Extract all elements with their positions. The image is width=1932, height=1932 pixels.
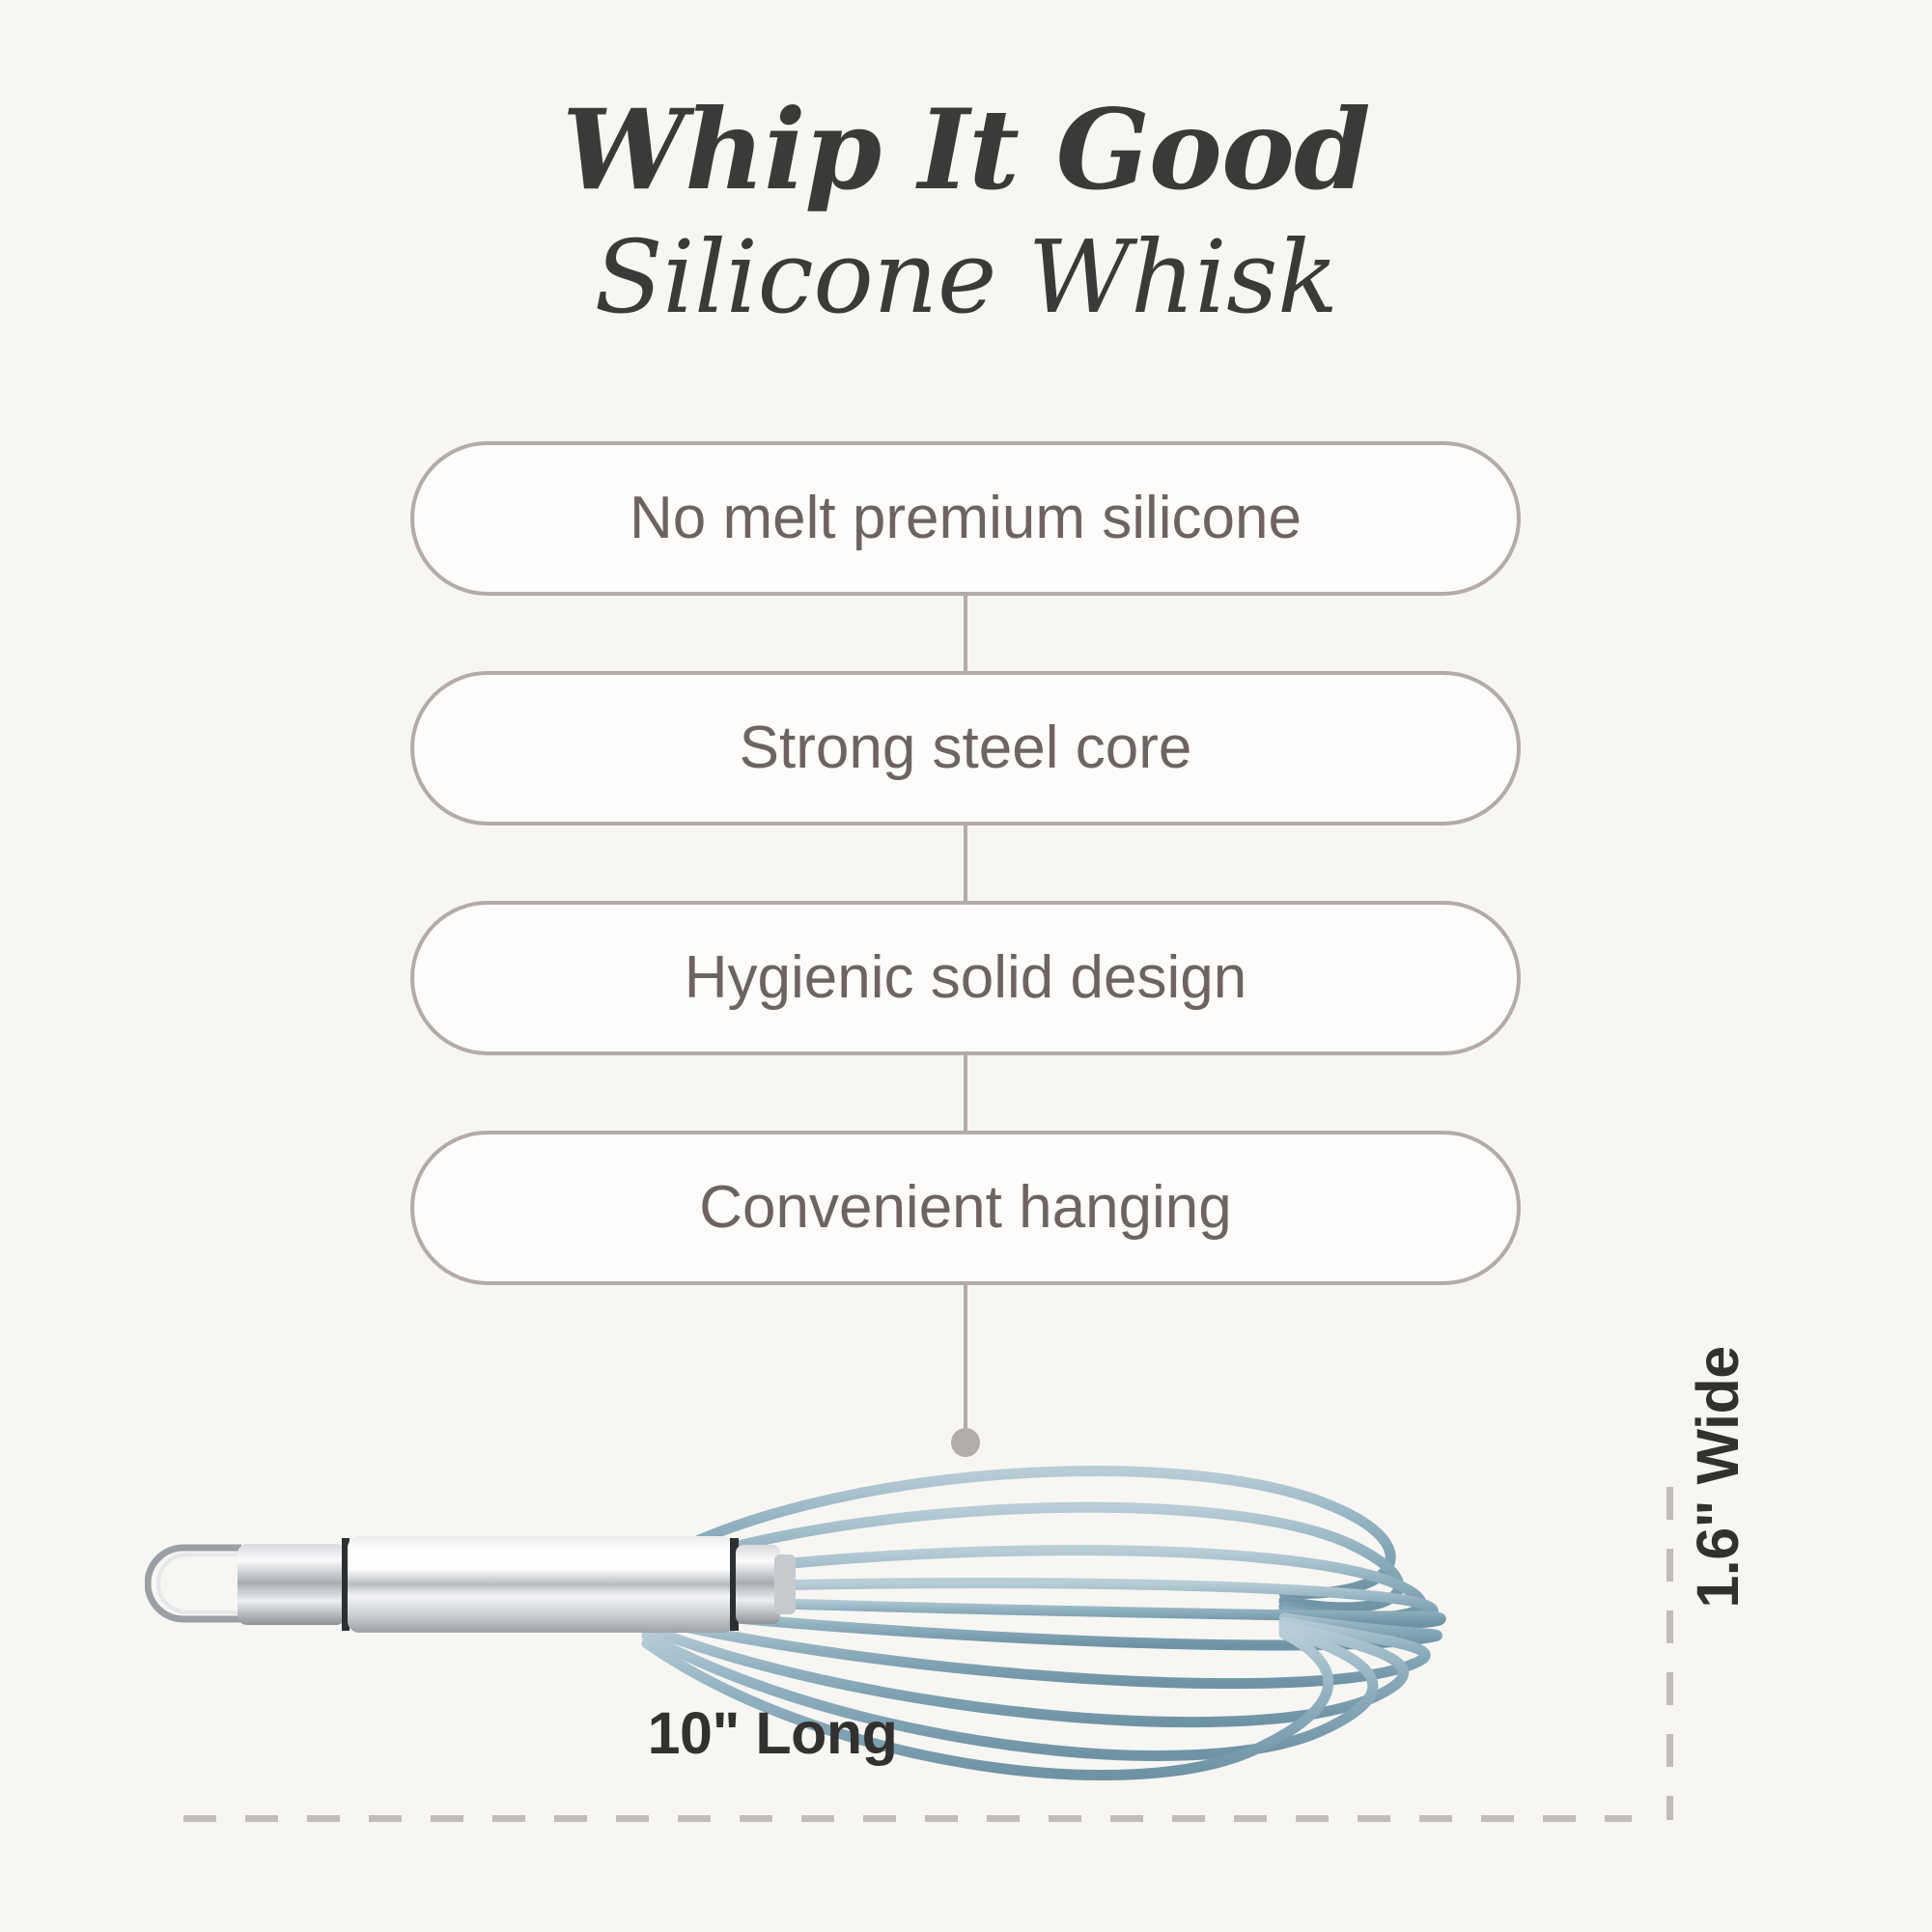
feature-label: Strong steel core (701, 718, 1231, 778)
dimension-length-label: 10" Long (0, 1699, 1545, 1767)
dimension-width-label: 1.6" Wide (1684, 1284, 1751, 1670)
feature-connector-line (964, 596, 967, 671)
feature-pill-hygienic-solid-design: Hygienic solid design (410, 901, 1521, 1055)
product-image: Starpack (0, 1352, 1932, 1932)
page-title: Whip It Good (0, 89, 1932, 212)
length-guide-dashed-line (183, 1815, 1632, 1822)
hanging-loop (148, 1548, 241, 1619)
whisk-handle (238, 1536, 796, 1633)
feature-pill-strong-steel-core: Strong steel core (410, 671, 1521, 826)
feature-row: Hygienic solid design (410, 901, 1521, 1055)
feature-pill-no-melt-premium-silicone: No melt premium silicone (410, 441, 1521, 596)
page-subtitle: Silicone Whisk (0, 218, 1932, 337)
width-guide-dashed-line (1666, 1487, 1673, 1820)
feature-connector-line (964, 826, 967, 901)
feature-connector-line (964, 1055, 967, 1131)
feature-label: Convenient hanging (660, 1178, 1271, 1238)
feature-list: No melt premium silicone Strong steel co… (410, 441, 1521, 1457)
feature-row: No melt premium silicone (410, 441, 1521, 596)
feature-pill-convenient-hanging: Convenient hanging (410, 1131, 1521, 1285)
product-infographic: Whip It Good Silicone Whisk No melt prem… (0, 0, 1932, 1932)
feature-label: No melt premium silicone (591, 489, 1340, 548)
feature-row: Strong steel core (410, 671, 1521, 826)
feature-label: Hygienic solid design (646, 948, 1285, 1008)
feature-row: Convenient hanging (410, 1131, 1521, 1285)
title-block: Whip It Good Silicone Whisk (0, 89, 1932, 336)
